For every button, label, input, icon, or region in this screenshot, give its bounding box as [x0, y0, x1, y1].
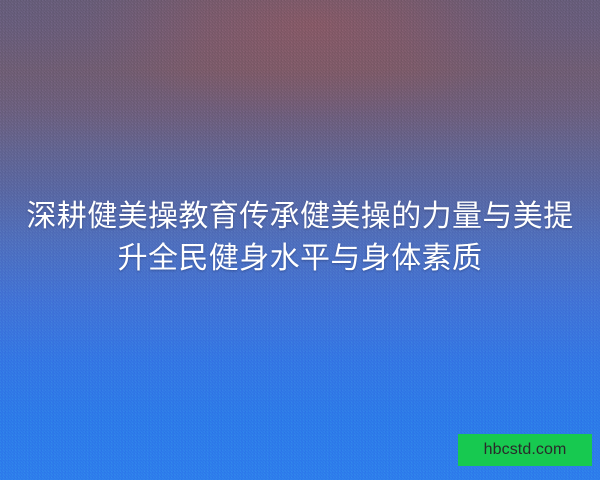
watermark-badge: hbcstd.com — [458, 434, 592, 466]
headline-text: 深耕健美操教育传承健美操的力量与美提 升全民健身水平与身体素质 — [0, 196, 600, 280]
watermark-label: hbcstd.com — [484, 442, 567, 458]
headline-line-2: 升全民健身水平与身体素质 — [0, 238, 600, 280]
banner-image: 深耕健美操教育传承健美操的力量与美提 升全民健身水平与身体素质 hbcstd.c… — [0, 0, 600, 480]
headline-line-1: 深耕健美操教育传承健美操的力量与美提 — [0, 196, 600, 238]
